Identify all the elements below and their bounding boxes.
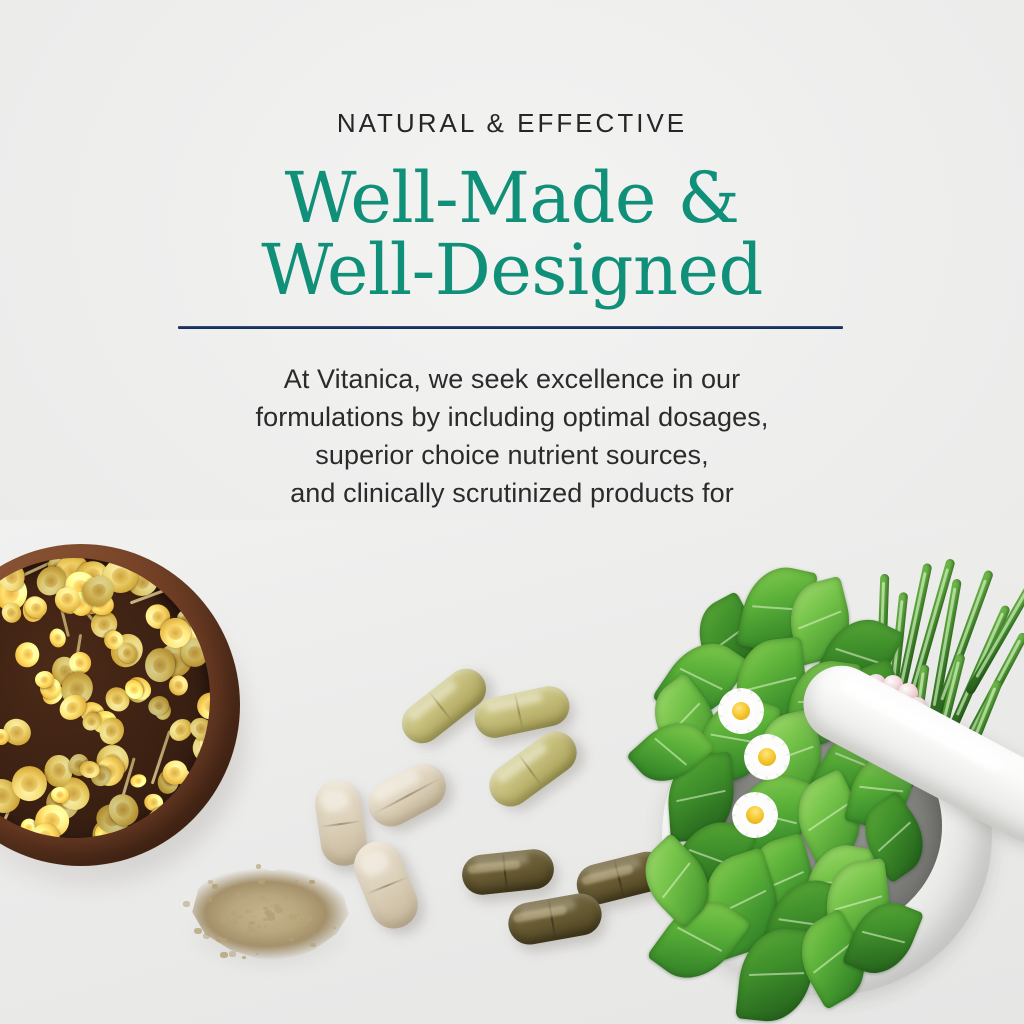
headline-line-2: Well-Designed — [0, 234, 1024, 306]
eyebrow-text: NATURAL & EFFECTIVE — [0, 108, 1024, 139]
mortar-and-pestle — [640, 556, 1024, 1024]
cream-tablet-2 — [360, 755, 454, 834]
cream-tablet-3 — [347, 834, 425, 935]
body-line-3: superior choice nutrient sources, — [0, 436, 1024, 474]
body-line-2: formulations by including optimal dosage… — [0, 398, 1024, 436]
divider-rule — [178, 326, 843, 329]
headline-line-1: Well-Made & — [0, 162, 1024, 234]
product-photo-stage — [0, 520, 1024, 1024]
body-line-1: At Vitanica, we seek excellence in our — [0, 360, 1024, 398]
brown-capsule-1 — [460, 847, 556, 896]
body-line-4: and clinically scrutinized products for — [0, 474, 1024, 512]
promo-canvas: NATURAL & EFFECTIVE Well-Made & Well-Des… — [0, 0, 1024, 1024]
page-title: Well-Made & Well-Designed — [0, 162, 1024, 306]
